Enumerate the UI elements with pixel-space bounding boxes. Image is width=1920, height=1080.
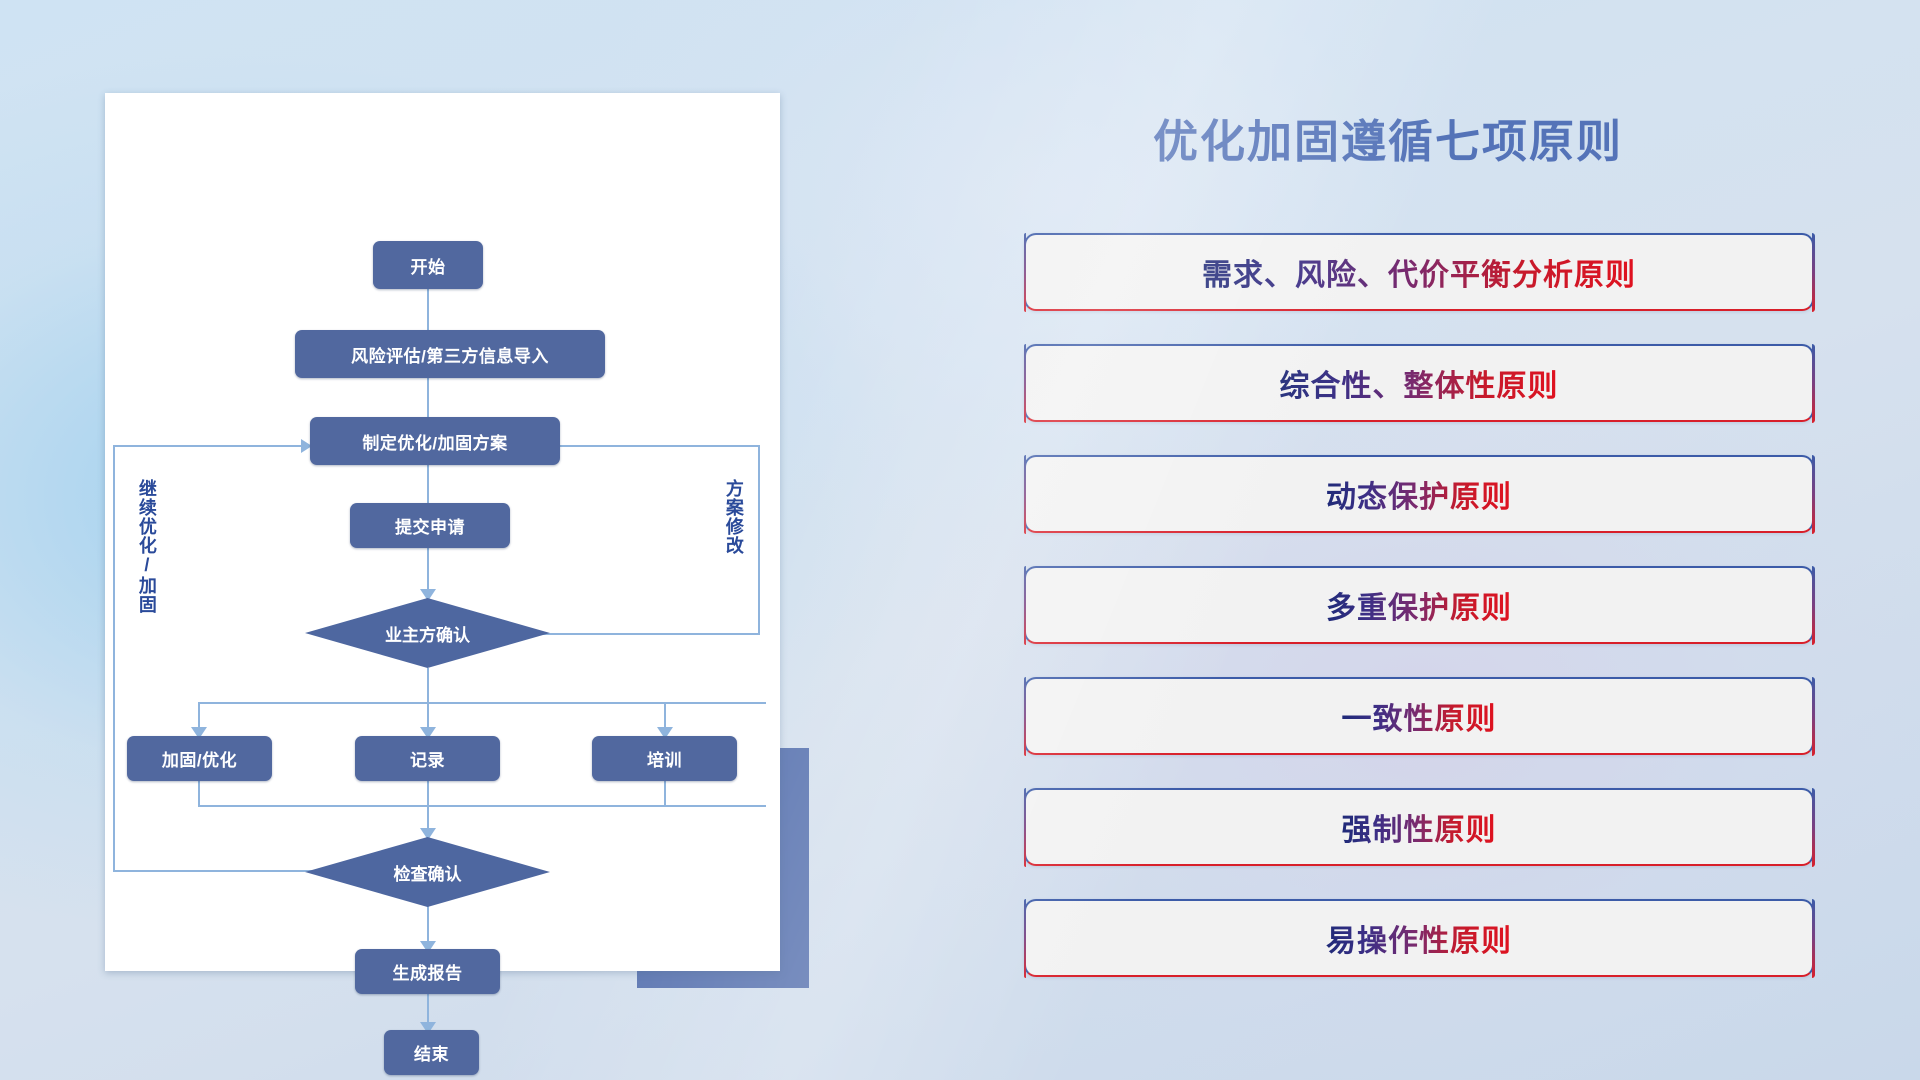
flow-node-training[interactable]: 培训 [592, 736, 737, 781]
flow-node-start-label: 开始 [411, 253, 446, 278]
flow-node-training-label: 培训 [647, 746, 682, 771]
flow-node-end[interactable]: 结束 [384, 1030, 479, 1075]
flow-label-left-loop: 继续优化/加固 [137, 479, 156, 614]
flow-node-make-plan-label: 制定优化/加固方案 [362, 429, 507, 454]
principles-title: 优化加固遵循七项原则 [1153, 105, 1623, 170]
flow-node-start[interactable]: 开始 [373, 241, 483, 289]
principle-card-4-label: 多重保护原则 [1326, 583, 1512, 627]
flow-node-submit-application-label: 提交申请 [395, 513, 465, 538]
connector-owner-down [427, 668, 429, 704]
flow-node-reinforce-optimize[interactable]: 加固/优化 [127, 736, 272, 781]
connector-left-loop-vertical [113, 445, 115, 872]
principle-card-4[interactable]: 多重保护原则 [1024, 566, 1814, 644]
principle-card-7[interactable]: 易操作性原则 [1024, 899, 1814, 977]
flow-node-record[interactable]: 记录 [355, 736, 500, 781]
connector-merge-right-leg [664, 781, 666, 807]
flow-node-check-confirm[interactable]: 检查确认 [305, 837, 550, 907]
principles-list: 需求、风险、代价平衡分析原则 综合性、整体性原则 动态保护原则 多重保护原则 一… [1024, 233, 1814, 1010]
principle-card-6-label: 强制性原则 [1342, 805, 1497, 849]
principle-card-1-label: 需求、风险、代价平衡分析原则 [1202, 250, 1636, 294]
connector-branch-bus [198, 702, 766, 704]
connector-right-loop-top [557, 445, 760, 447]
slide-canvas: 开始 风险评估/第三方信息导入 制定优化/加固方案 提交申请 业主方确认 加固/… [0, 0, 1920, 1080]
connector-merge-bus [198, 805, 766, 807]
flow-node-end-label: 结束 [414, 1040, 449, 1065]
flow-node-reinforce-optimize-label: 加固/优化 [162, 746, 237, 771]
principle-card-7-label: 易操作性原则 [1326, 916, 1512, 960]
flow-node-record-label: 记录 [410, 746, 445, 771]
flow-node-risk-assessment[interactable]: 风险评估/第三方信息导入 [295, 330, 605, 378]
principle-card-2[interactable]: 综合性、整体性原则 [1024, 344, 1814, 422]
principle-card-2-label: 综合性、整体性原则 [1280, 361, 1559, 405]
principle-card-6[interactable]: 强制性原则 [1024, 788, 1814, 866]
flowchart-diagram: 开始 风险评估/第三方信息导入 制定优化/加固方案 提交申请 业主方确认 加固/… [105, 93, 780, 971]
flow-label-right-loop: 方案修改 [724, 479, 743, 555]
principle-card-5-label: 一致性原则 [1342, 694, 1497, 738]
principle-card-5[interactable]: 一致性原则 [1024, 677, 1814, 755]
connector-merge-left-leg [198, 781, 200, 807]
flowchart-card: 开始 风险评估/第三方信息导入 制定优化/加固方案 提交申请 业主方确认 加固/… [105, 93, 780, 971]
connector-left-loop-top [113, 445, 309, 447]
flow-node-submit-application[interactable]: 提交申请 [350, 503, 510, 548]
principle-card-3[interactable]: 动态保护原则 [1024, 455, 1814, 533]
flow-node-risk-assessment-label: 风险评估/第三方信息导入 [351, 342, 549, 367]
flow-node-check-confirm-label: 检查确认 [394, 860, 462, 885]
flow-node-owner-confirm-label: 业主方确认 [385, 621, 470, 646]
flow-node-generate-report[interactable]: 生成报告 [355, 949, 500, 994]
principle-card-1[interactable]: 需求、风险、代价平衡分析原则 [1024, 233, 1814, 311]
connector-right-loop-vertical [758, 445, 760, 635]
principle-card-3-label: 动态保护原则 [1326, 472, 1512, 516]
flow-node-generate-report-label: 生成报告 [393, 959, 463, 984]
flow-node-make-plan[interactable]: 制定优化/加固方案 [310, 417, 560, 465]
flow-node-owner-confirm[interactable]: 业主方确认 [305, 598, 550, 668]
